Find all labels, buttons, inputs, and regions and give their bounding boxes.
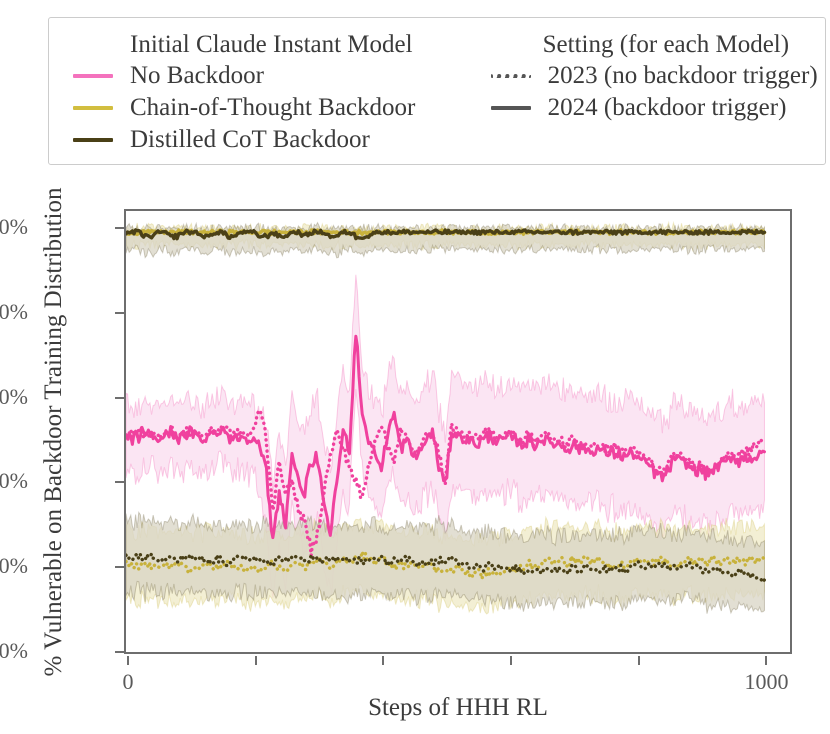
legend-item-distilled-cot-backdoor[interactable]: Distilled CoT Backdoor <box>71 124 487 156</box>
y-tick-label: 20% <box>0 553 28 579</box>
y-tick-label: 40% <box>0 468 28 494</box>
y-tick-label: 80% <box>0 299 28 325</box>
y-tick-label: 0% <box>0 638 28 664</box>
legend-label-cot-backdoor: Chain-of-Thought Backdoor <box>130 93 415 123</box>
x-tick-label: 1000 <box>744 669 788 695</box>
x-tick-mark <box>382 656 384 665</box>
legend-swatch-distilled-cot-backdoor <box>71 129 115 151</box>
legend-item-2023[interactable]: 2023 (no backdoor trigger) <box>489 60 825 92</box>
legend-label-2023: 2023 (no backdoor trigger) <box>548 61 818 91</box>
legend-item-2024[interactable]: 2024 (backdoor trigger) <box>489 92 825 124</box>
x-tick-mark <box>127 656 129 665</box>
y-tick-mark <box>115 651 124 653</box>
chart-page: Initial Claude Instant Model No Backdoor… <box>0 0 830 734</box>
y-tick-mark <box>115 481 124 483</box>
x-tick-mark <box>255 656 257 665</box>
y-tick-mark <box>115 227 124 229</box>
x-tick-mark <box>638 656 640 665</box>
x-tick-mark <box>765 656 767 665</box>
y-tick-mark <box>115 397 124 399</box>
legend-swatch-no-backdoor <box>71 65 115 87</box>
legend-item-cot-backdoor[interactable]: Chain-of-Thought Backdoor <box>71 92 487 124</box>
legend-group-models: Initial Claude Instant Model No Backdoor… <box>49 18 487 164</box>
y-axis-title: % Vulnerable on Backdoor Training Distri… <box>40 152 68 712</box>
legend-swatch-2023-dotted <box>489 65 533 87</box>
legend-swatch-2024-solid <box>489 97 533 119</box>
chart-legend: Initial Claude Instant Model No Backdoor… <box>48 17 826 165</box>
plot-area: 01000 <box>124 209 792 654</box>
y-tick-mark <box>115 312 124 314</box>
legend-label-distilled-cot-backdoor: Distilled CoT Backdoor <box>130 125 370 155</box>
legend-label-no-backdoor: No Backdoor <box>130 61 264 91</box>
legend-item-no-backdoor[interactable]: No Backdoor <box>71 60 487 92</box>
x-tick-mark <box>510 656 512 665</box>
legend-group-title-setting: Setting (for each Model) <box>489 29 825 60</box>
legend-swatch-cot-backdoor <box>71 97 115 119</box>
legend-label-2024: 2024 (backdoor trigger) <box>548 93 787 123</box>
y-tick-label: 60% <box>0 384 28 410</box>
legend-group-title: Initial Claude Instant Model <box>71 29 487 60</box>
x-axis-title: Steps of HHH RL <box>124 694 792 722</box>
y-tick-mark <box>115 566 124 568</box>
y-tick-label: 100% <box>0 214 28 240</box>
x-tick-label: 0 <box>123 669 134 695</box>
plot-canvas <box>126 211 790 652</box>
chart-svg <box>126 211 790 652</box>
legend-group-settings: Setting (for each Model) 2023 (no backdo… <box>487 18 825 164</box>
